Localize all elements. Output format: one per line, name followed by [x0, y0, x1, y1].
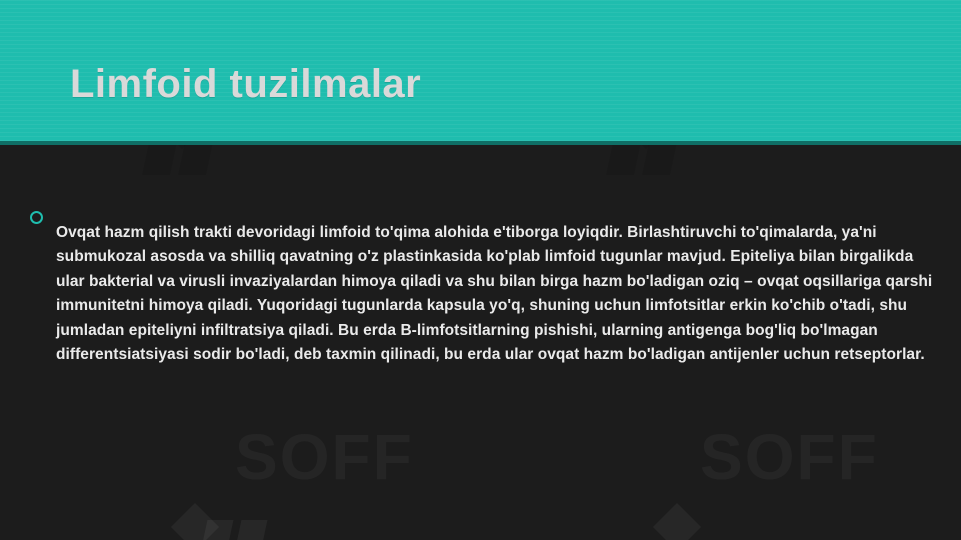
bullet-list-item: Ovqat hazm qilish trakti devoridagi limf…: [30, 205, 935, 384]
header-underline: [0, 141, 961, 145]
slide-body: Ovqat hazm qilish trakti devoridagi limf…: [0, 145, 961, 540]
bullet-paragraph: Ovqat hazm qilish trakti devoridagi limf…: [56, 221, 935, 369]
bullet-circle-icon: [30, 211, 43, 224]
page-title: Limfoid tuzilmalar: [70, 62, 421, 107]
slide: SOFF SOFF SOFF SOFF Limfoid tuzilmalar O…: [0, 0, 961, 540]
